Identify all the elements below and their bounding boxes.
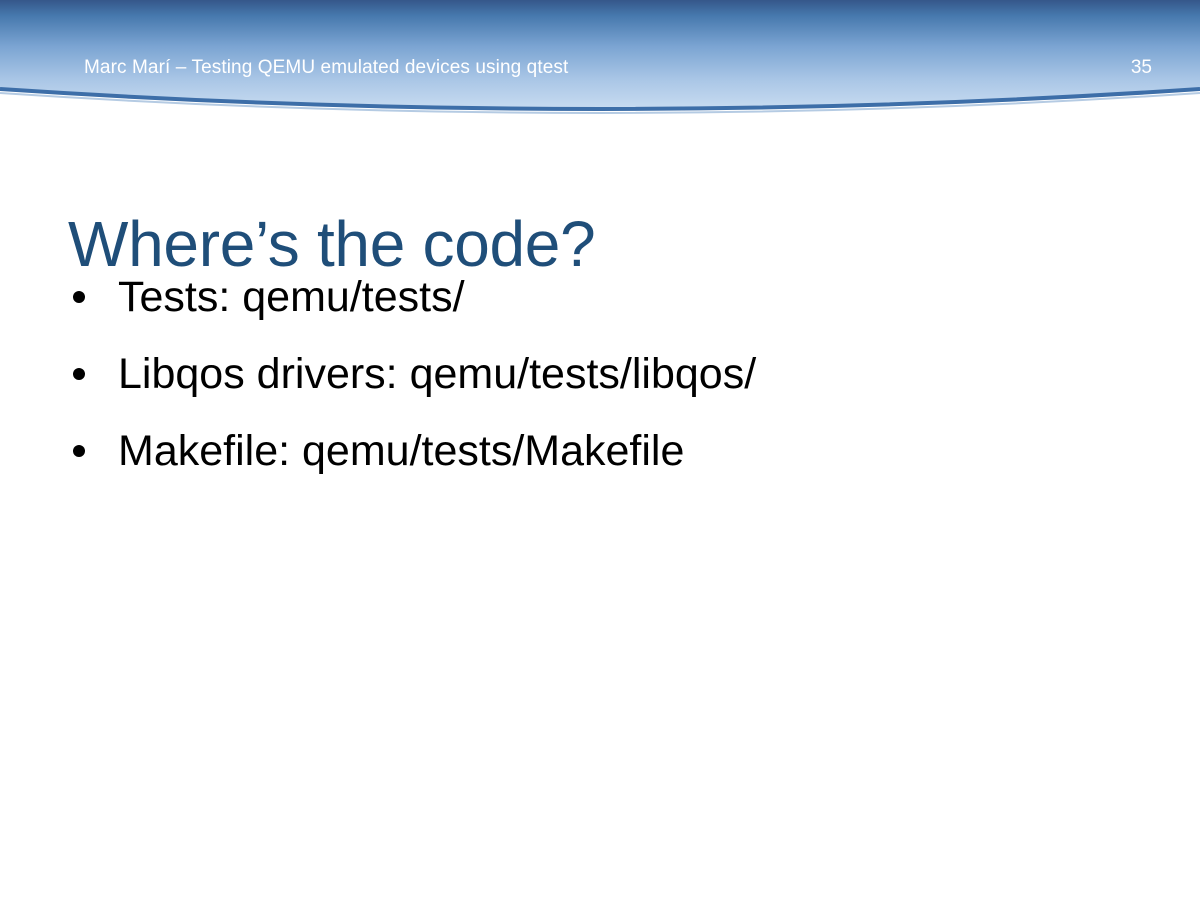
page-number: 35 (0, 56, 1152, 80)
bullet-dot-icon (73, 445, 85, 457)
list-item: Libqos drivers: qemu/tests/libqos/ (68, 349, 1128, 426)
list-item-label: Makefile: qemu/tests/Makefile (118, 426, 684, 477)
list-item: Tests: qemu/tests/ (68, 272, 1128, 349)
header-gradient-fill (0, 0, 1200, 110)
bullet-dot-icon (73, 291, 85, 303)
list-item-label: Libqos drivers: qemu/tests/libqos/ (118, 349, 756, 400)
slide: Marc Marí – Testing QEMU emulated device… (0, 0, 1200, 900)
bullet-list: Tests: qemu/tests/ Libqos drivers: qemu/… (68, 272, 1128, 503)
list-item-label: Tests: qemu/tests/ (118, 272, 465, 323)
slide-header-banner: Marc Marí – Testing QEMU emulated device… (0, 0, 1200, 120)
list-item: Makefile: qemu/tests/Makefile (68, 426, 1128, 503)
bullet-dot-icon (73, 368, 85, 380)
